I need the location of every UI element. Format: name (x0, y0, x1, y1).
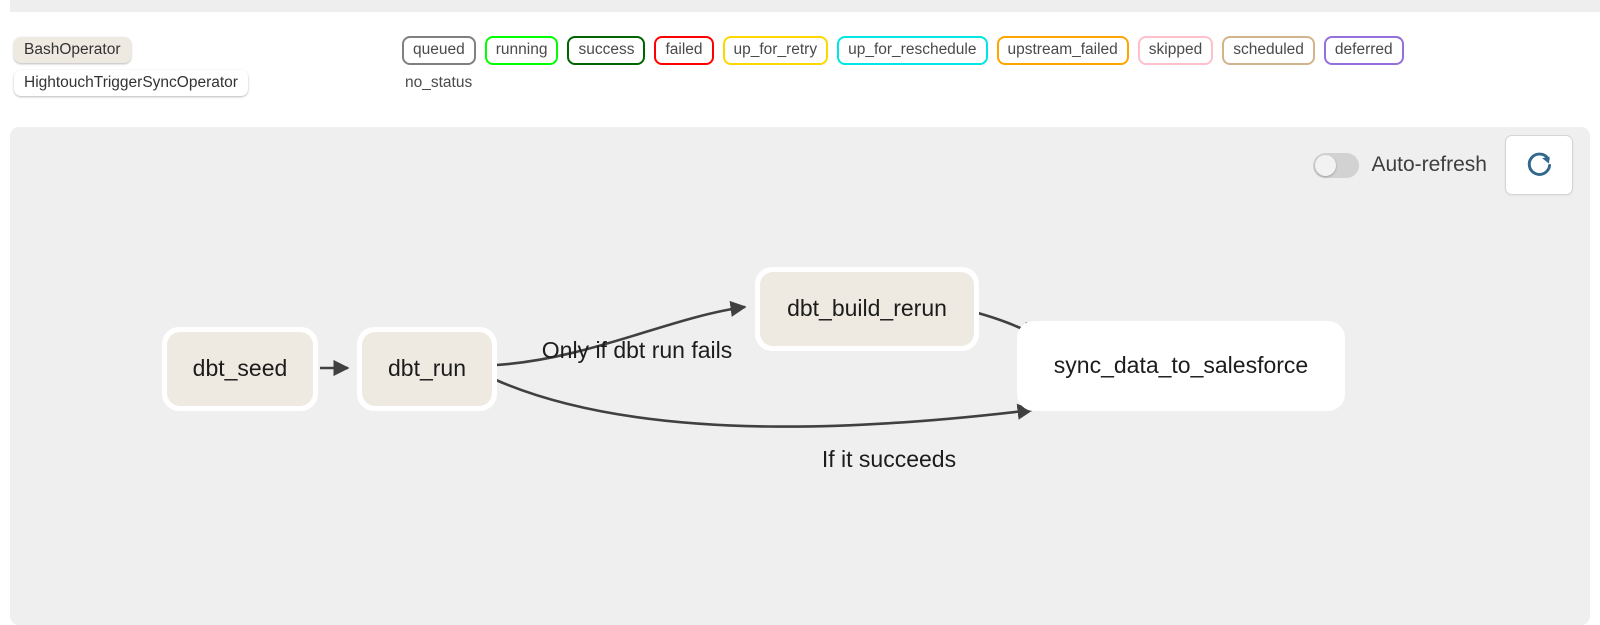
status-chip-deferred[interactable]: deferred (1324, 36, 1404, 65)
node-dbt-build-rerun-label: dbt_build_rerun (787, 295, 947, 321)
node-dbt-seed-label: dbt_seed (193, 355, 288, 381)
no-status-label: no_status (405, 74, 1404, 92)
operator-chip-bashoperator: BashOperator (14, 37, 131, 63)
graph-edge-labels: Only if dbt run fails If it succeeds (542, 337, 956, 472)
status-chip-success[interactable]: success (567, 36, 645, 65)
status-chip-up-for-reschedule[interactable]: up_for_reschedule (837, 36, 987, 65)
node-dbt-seed[interactable]: dbt_seed (162, 327, 318, 411)
operator-legend: BashOperator HightouchTriggerSyncOperato… (14, 37, 248, 96)
status-legend-row: queued running success failed up_for_ret… (402, 36, 1404, 65)
status-chip-up-for-retry[interactable]: up_for_retry (723, 36, 829, 65)
dag-graph: dbt_seed dbt_run dbt_build_rerun (10, 127, 1590, 625)
edge-dbt-run-to-sync (496, 380, 1032, 427)
status-chip-scheduled[interactable]: scheduled (1222, 36, 1315, 65)
status-chip-running[interactable]: running (485, 36, 559, 65)
node-sync-data-to-salesforce[interactable]: sync_data_to_salesforce (1017, 321, 1345, 411)
node-dbt-build-rerun[interactable]: dbt_build_rerun (755, 267, 979, 351)
status-chip-failed[interactable]: failed (654, 36, 713, 65)
graph-nodes: dbt_seed dbt_run dbt_build_rerun (162, 267, 1345, 411)
status-chip-queued[interactable]: queued (402, 36, 476, 65)
status-chip-skipped[interactable]: skipped (1138, 36, 1213, 65)
edge-label-if-it-succeeds: If it succeeds (822, 446, 956, 472)
operator-chip-hightouchtriggersyncoperator: HightouchTriggerSyncOperator (14, 70, 248, 96)
node-dbt-run-label: dbt_run (388, 355, 466, 381)
node-sync-data-to-salesforce-label: sync_data_to_salesforce (1054, 352, 1308, 378)
dag-graph-view: BashOperator HightouchTriggerSyncOperato… (0, 0, 1600, 625)
graph-canvas[interactable]: Auto-refresh (10, 127, 1590, 625)
status-legend: queued running success failed up_for_ret… (402, 36, 1404, 92)
top-strip (10, 0, 1600, 12)
status-chip-upstream-failed[interactable]: upstream_failed (997, 36, 1129, 65)
node-dbt-run[interactable]: dbt_run (357, 327, 497, 411)
legend-area: BashOperator HightouchTriggerSyncOperato… (0, 24, 1600, 112)
edge-label-only-if-dbt-run-fails: Only if dbt run fails (542, 337, 732, 363)
